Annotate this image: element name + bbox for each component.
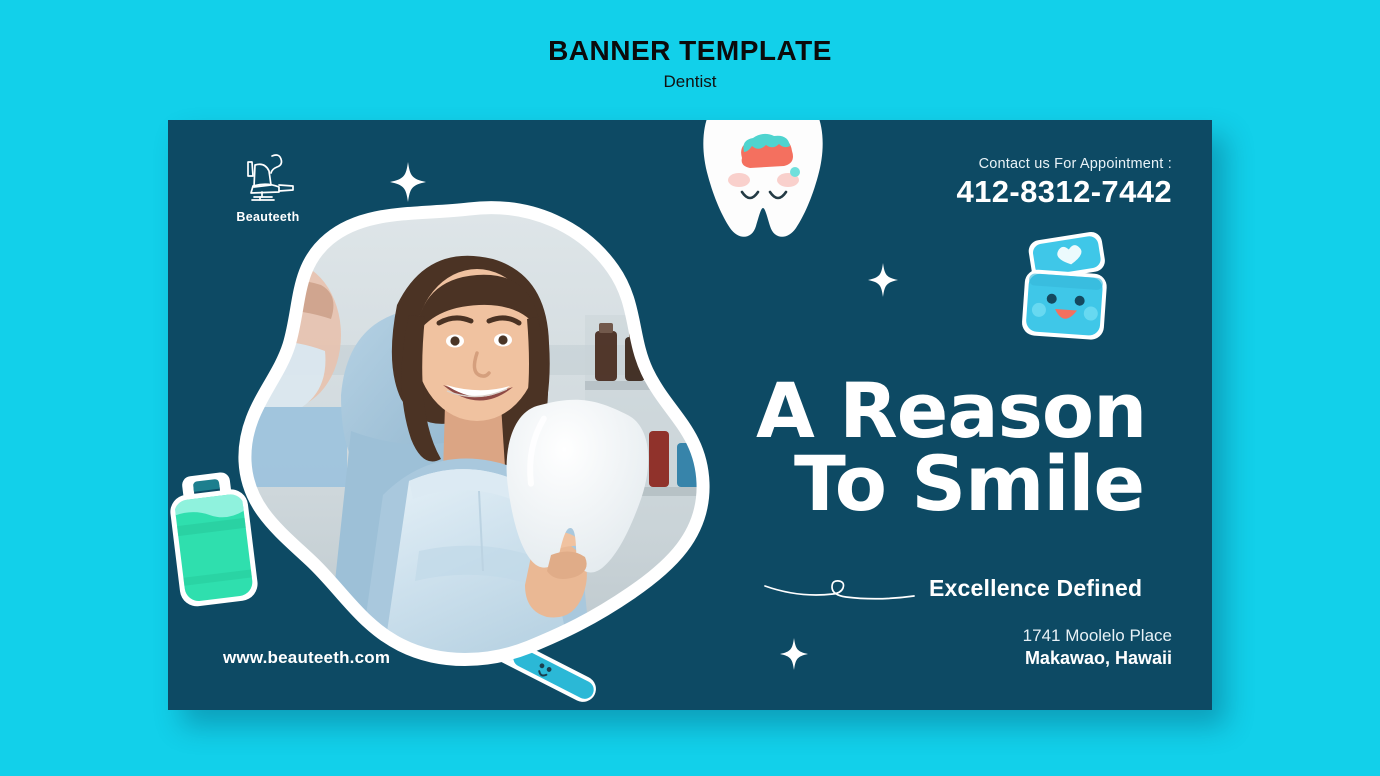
banner-canvas[interactable]: Beauteeth Contact us For Appointment : 4… bbox=[168, 120, 1212, 710]
dental-chair-icon bbox=[238, 152, 298, 204]
headline-block: A Reason To Smile bbox=[756, 375, 1181, 521]
tagline-text: Excellence Defined bbox=[929, 575, 1142, 602]
headline-line-1: A Reason bbox=[756, 375, 1181, 448]
page-subtitle: Dentist bbox=[0, 72, 1380, 92]
tooth-character-icon bbox=[698, 120, 828, 248]
sparkle-icon bbox=[868, 263, 898, 302]
page-title: BANNER TEMPLATE bbox=[0, 36, 1380, 67]
tagline-row: Excellence Defined bbox=[763, 575, 1183, 602]
sparkle-icon bbox=[780, 638, 808, 675]
website-url[interactable]: www.beauteeth.com bbox=[223, 648, 390, 668]
address-line-1: 1741 Moolelo Place bbox=[1023, 625, 1172, 647]
contact-block: Contact us For Appointment : 412-8312-74… bbox=[957, 156, 1173, 210]
brand-name: Beauteeth bbox=[213, 210, 323, 224]
page-header: BANNER TEMPLATE Dentist bbox=[0, 36, 1380, 92]
address-line-2: Makawao, Hawaii bbox=[1023, 647, 1172, 670]
hero-photo bbox=[233, 195, 713, 670]
address-block: 1741 Moolelo Place Makawao, Hawaii bbox=[1023, 625, 1172, 670]
contact-phone[interactable]: 412-8312-7442 bbox=[957, 174, 1173, 210]
flourish-icon bbox=[763, 576, 915, 602]
headline-line-2: To Smile bbox=[756, 448, 1181, 521]
brand-logo[interactable]: Beauteeth bbox=[213, 152, 323, 224]
contact-label: Contact us For Appointment : bbox=[957, 156, 1173, 172]
floss-container-icon bbox=[1013, 230, 1125, 353]
